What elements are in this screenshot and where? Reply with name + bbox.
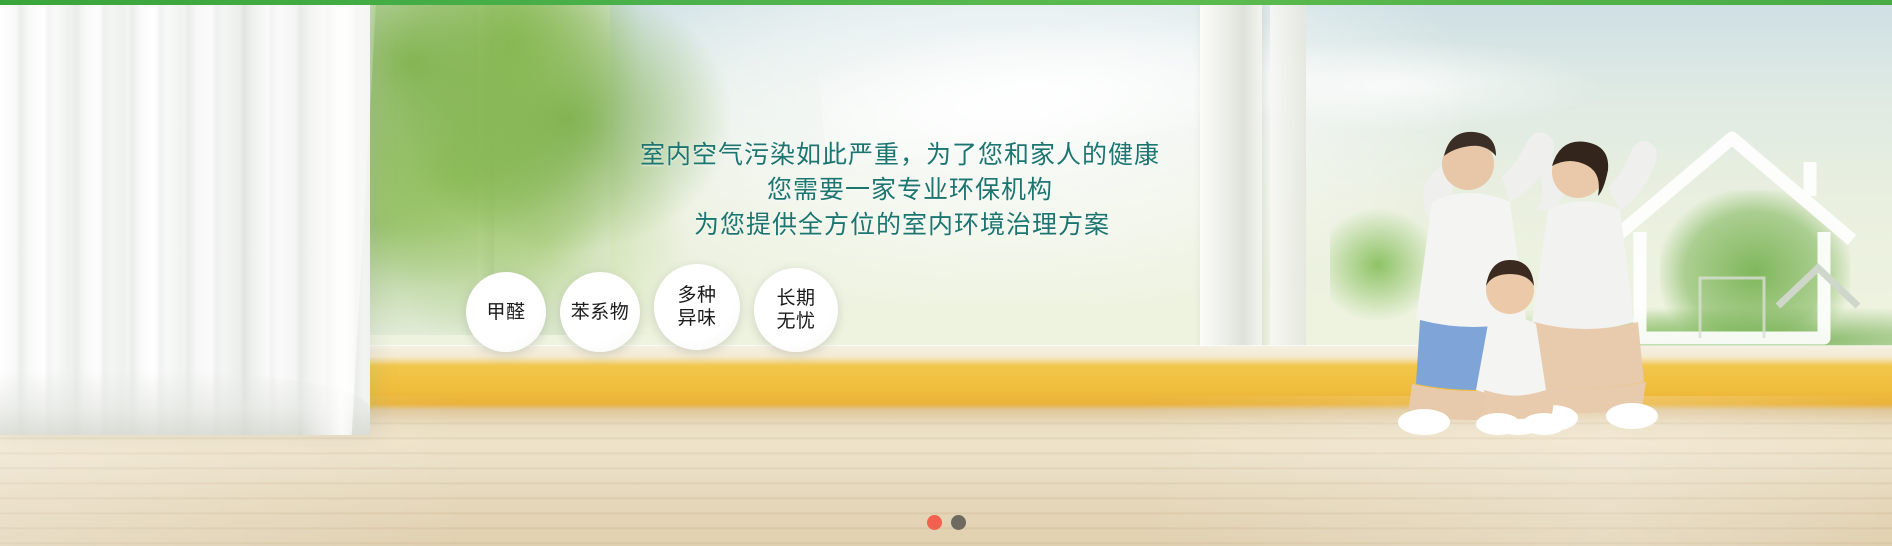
carousel-pagination — [0, 515, 1892, 530]
hero-banner: 室内空气污染如此严重，为了您和家人的健康 您需要一家专业环保机构 为您提供全方位… — [0, 0, 1892, 546]
family-photo — [1320, 110, 1740, 440]
badge-benzene-series-line1: 苯系物 — [571, 301, 630, 324]
top-accent-bar — [0, 0, 1892, 5]
badge-multiple-odors[interactable]: 多种 异味 — [654, 264, 740, 350]
right-pillar-secondary — [1270, 5, 1306, 365]
headline-line-1: 室内空气污染如此严重，为了您和家人的健康 — [640, 138, 1160, 173]
badge-formaldehyde[interactable]: 甲醛 — [466, 272, 546, 352]
badge-formaldehyde-line1: 甲醛 — [486, 301, 525, 324]
badge-long-term-worry-free-line1: 长期 — [776, 287, 815, 310]
badge-long-term-worry-free-line2: 无忧 — [776, 310, 815, 333]
badge-multiple-odors-line2: 异味 — [677, 307, 716, 330]
carousel-dot-1[interactable] — [927, 515, 942, 530]
headline-line-2: 您需要一家专业环保机构 — [640, 173, 1160, 208]
feature-badge-group: 甲醛 苯系物 多种 异味 长期 无忧 — [466, 272, 852, 352]
headline-line-3: 为您提供全方位的室内环境治理方案 — [640, 208, 1160, 243]
carousel-dot-2[interactable] — [951, 515, 966, 530]
badge-benzene-series[interactable]: 苯系物 — [560, 272, 640, 352]
right-pillar — [1200, 5, 1262, 365]
headline-block: 室内空气污染如此严重，为了您和家人的健康 您需要一家专业环保机构 为您提供全方位… — [640, 138, 1160, 243]
badge-multiple-odors-line1: 多种 — [677, 284, 716, 307]
badge-long-term-worry-free[interactable]: 长期 无忧 — [754, 268, 838, 352]
